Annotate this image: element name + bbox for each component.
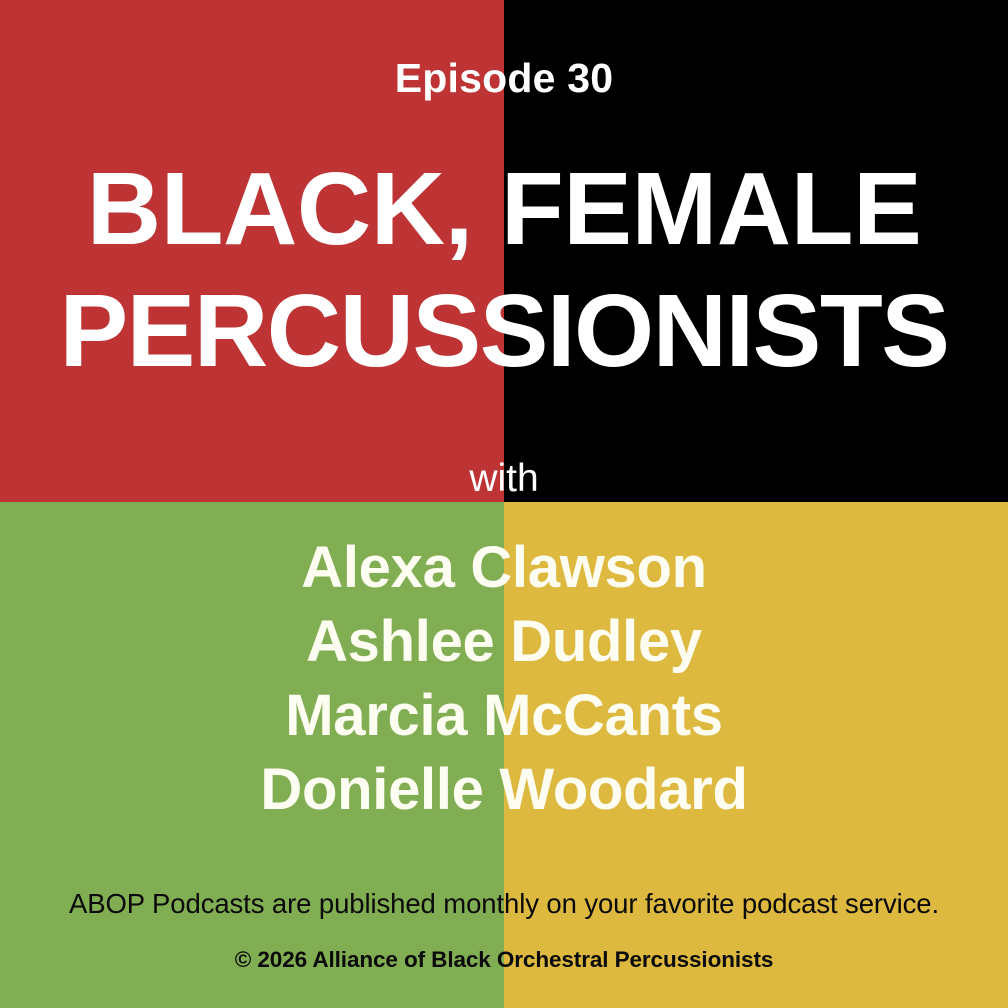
guest-name: Ashlee Dudley [0, 605, 1008, 679]
guest-name: Donielle Woodard [0, 753, 1008, 827]
poster-content: Episode 30 BLACK, FEMALE PERCUSSIONISTS … [0, 0, 1008, 1008]
title-line-1: BLACK, FEMALE [0, 148, 1008, 270]
guest-name: Alexa Clawson [0, 531, 1008, 605]
episode-number-label: Episode 30 [0, 58, 1008, 99]
podcast-episode-poster: Episode 30 BLACK, FEMALE PERCUSSIONISTS … [0, 0, 1008, 1008]
publishing-footnote: ABOP Podcasts are published monthly on y… [0, 890, 1008, 918]
with-label: with [0, 459, 1008, 498]
poster-title: BLACK, FEMALE PERCUSSIONISTS [0, 148, 1008, 391]
guest-name-list: Alexa Clawson Ashlee Dudley Marcia McCan… [0, 531, 1008, 827]
copyright-notice: © 2026 Alliance of Black Orchestral Perc… [0, 949, 1008, 972]
title-line-2: PERCUSSIONISTS [0, 270, 1008, 392]
guest-name: Marcia McCants [0, 679, 1008, 753]
